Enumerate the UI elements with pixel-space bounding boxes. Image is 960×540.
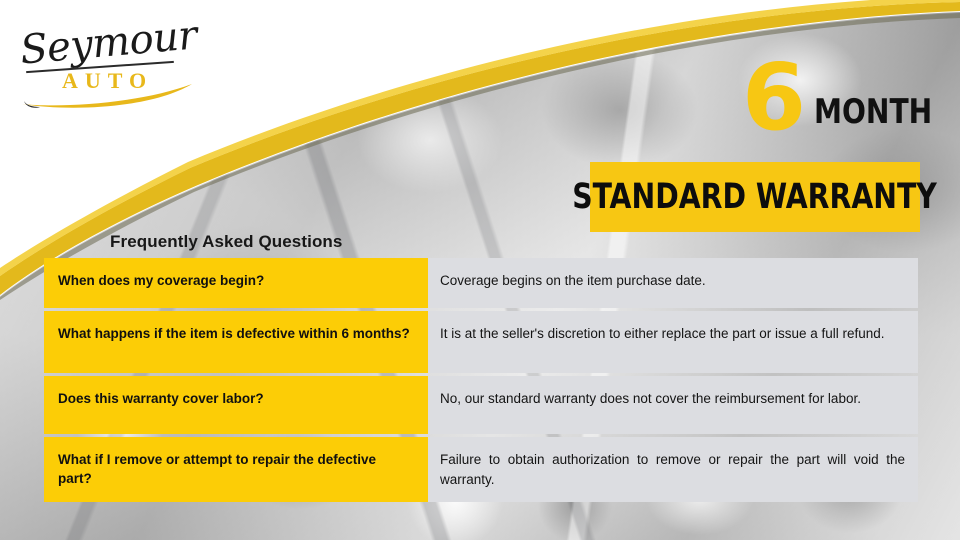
seymour-auto-logo: Seymour AUTO <box>14 16 204 112</box>
table-row: What if I remove or attempt to repair th… <box>44 437 918 502</box>
faq-answer: No, our standard warranty does not cover… <box>424 376 918 434</box>
faq-heading: Frequently Asked Questions <box>110 232 342 252</box>
faq-answer: Failure to obtain authorization to remov… <box>424 437 918 502</box>
standard-warranty-label: STANDARD WARRANTY <box>573 177 938 217</box>
duration-number: 6 <box>742 60 804 135</box>
faq-question: What happens if the item is defective wi… <box>44 311 424 373</box>
faq-question: When does my coverage begin? <box>44 258 424 308</box>
faq-answer: It is at the seller's discretion to eith… <box>424 311 918 373</box>
table-row: When does my coverage begin? Coverage be… <box>44 258 918 308</box>
warranty-slide: Seymour AUTO 6 MONTH STANDARD WARRANTY F… <box>0 0 960 540</box>
duration-unit: MONTH <box>814 95 932 135</box>
logo-swoosh-icon <box>20 78 196 108</box>
faq-table: When does my coverage begin? Coverage be… <box>44 258 918 502</box>
faq-question: What if I remove or attempt to repair th… <box>44 437 424 502</box>
duration-headline: 6 MONTH <box>742 60 943 135</box>
faq-answer: Coverage begins on the item purchase dat… <box>424 258 918 308</box>
table-row: Does this warranty cover labor? No, our … <box>44 376 918 434</box>
standard-warranty-banner: STANDARD WARRANTY <box>590 162 920 232</box>
faq-question: Does this warranty cover labor? <box>44 376 424 434</box>
table-row: What happens if the item is defective wi… <box>44 311 918 373</box>
